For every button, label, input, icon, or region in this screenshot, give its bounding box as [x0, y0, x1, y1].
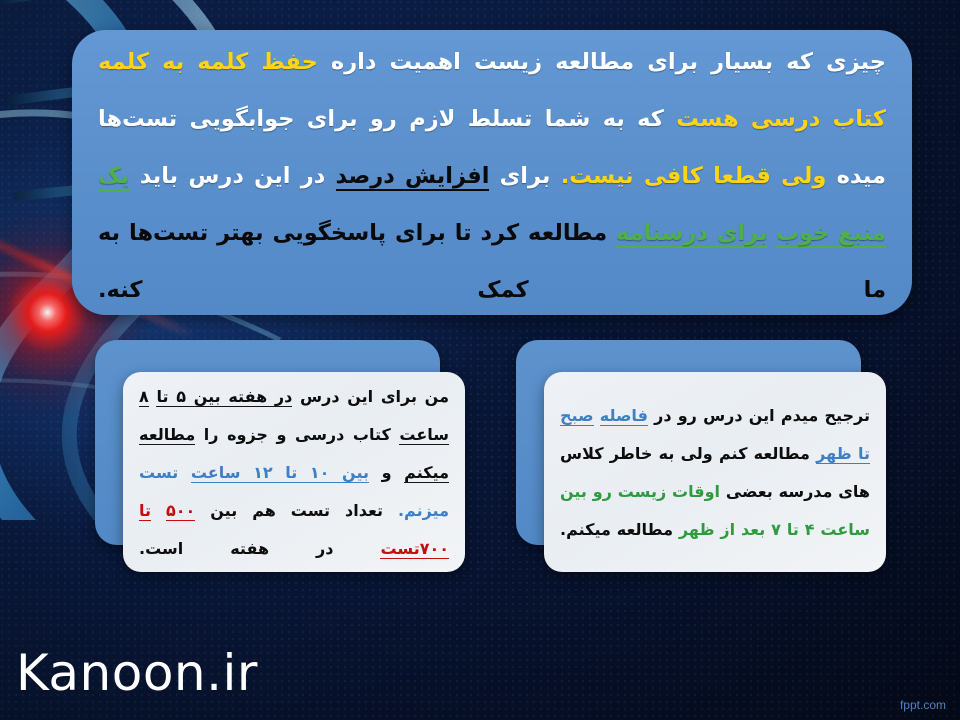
top-line4-green-lesson: برای درسنامه	[616, 220, 768, 248]
left-l3-test-hours: بین ۱۰ تا ۱۲ ساعت	[191, 463, 369, 483]
left-l2-b: کتاب درسی و جزوه را	[195, 425, 399, 444]
left-l5-b: در هفته است.	[139, 539, 380, 558]
right-l5-b: مطالعه میکنم.	[560, 520, 679, 539]
left-card-text: من برای این درس در هفته بین ۵ تا ۸ ساعت …	[139, 378, 449, 568]
left-l4-count-500: ۵۰۰	[166, 501, 195, 521]
top-line2-yellow-a: درسی هست	[676, 106, 820, 132]
slide-root: چیزی که بسیار برای مطالعه زیست اهمیت دار…	[0, 0, 960, 720]
left-card-front-panel: من برای این درس در هفته بین ۵ تا ۸ ساعت …	[123, 372, 465, 572]
right-l1-interval: فاصله	[600, 406, 648, 426]
top-line3-emphasis-percent: افزایش درصد	[336, 163, 490, 191]
right-l1-a: ترجیح میدم این درس رو در	[648, 406, 870, 425]
top-panel-text: چیزی که بسیار برای مطالعه زیست اهمیت دار…	[98, 34, 886, 319]
left-l1-a: من برای این درس	[292, 387, 449, 406]
top-line3-white-b: در این درس باید	[140, 163, 326, 189]
right-card-text: ترجیح میدم این درس رو در فاصله صبح تا ظه…	[560, 397, 870, 549]
top-message-panel: چیزی که بسیار برای مطالعه زیست اهمیت دار…	[72, 30, 912, 315]
left-l1-hours-week: در هفته بین ۵ تا	[156, 387, 292, 407]
fppt-watermark: fppt.com	[900, 698, 946, 712]
right-card-front-panel: ترجیح میدم این درس رو در فاصله صبح تا ظه…	[544, 372, 886, 572]
top-line2-yellow-b: ولی	[781, 163, 826, 189]
left-card: من برای این درس در هفته بین ۵ تا ۸ ساعت …	[95, 340, 465, 575]
top-line4-black: مطالعه کرد تا برای پاسخگویی بهتر تست‌ها …	[98, 220, 886, 303]
right-l2-b: مطالعه کنم ولی به خاطر	[604, 444, 817, 463]
top-line1-white: چیزی که بسیار برای مطالعه زیست اهمیت دار…	[331, 49, 886, 75]
top-line3-white-a: برای	[500, 163, 551, 189]
right-card: ترجیح میدم این درس رو در فاصله صبح تا ظه…	[516, 340, 886, 575]
left-l3-b: و	[369, 463, 404, 482]
right-l3-sometimes: اوقات	[672, 482, 720, 501]
right-l5-noon: ظهر	[679, 520, 715, 539]
left-l4-b: تعداد تست هم بین	[195, 501, 398, 520]
brand-logo: Kanoon.ir	[16, 644, 258, 702]
top-line3-yellow: قطعا کافی نیست.	[561, 163, 771, 189]
